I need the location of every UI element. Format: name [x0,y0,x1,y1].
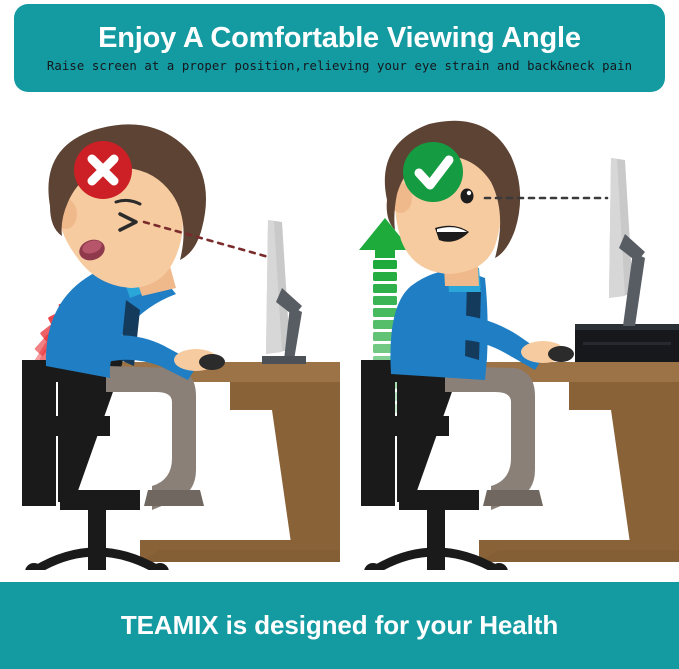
cross-badge [74,141,132,199]
panel-right-posture [339,110,679,570]
head-smiling [385,121,520,286]
header-banner: Enjoy A Comfortable Viewing Angle Raise … [14,4,665,92]
check-badge [403,142,463,202]
footer-tagline: TEAMIX is designed for your Health [121,610,558,641]
page-subtitle: Raise screen at a proper position,reliev… [47,59,632,73]
monitor-raised [609,158,645,326]
wrong-posture-illustration [0,110,340,570]
legs [106,366,204,510]
head-strained [48,124,206,296]
right-posture-illustration [339,110,679,570]
monitor-riser [575,324,679,362]
page-title: Enjoy A Comfortable Viewing Angle [98,23,581,55]
panel-wrong-posture [0,110,340,570]
hand-and-mouse [174,349,225,371]
legs [445,366,543,510]
monitor-low [262,220,306,364]
footer-banner: TEAMIX is designed for your Health [0,582,679,669]
infographic-poster: Enjoy A Comfortable Viewing Angle Raise … [0,0,679,669]
hand-and-mouse [521,341,574,363]
